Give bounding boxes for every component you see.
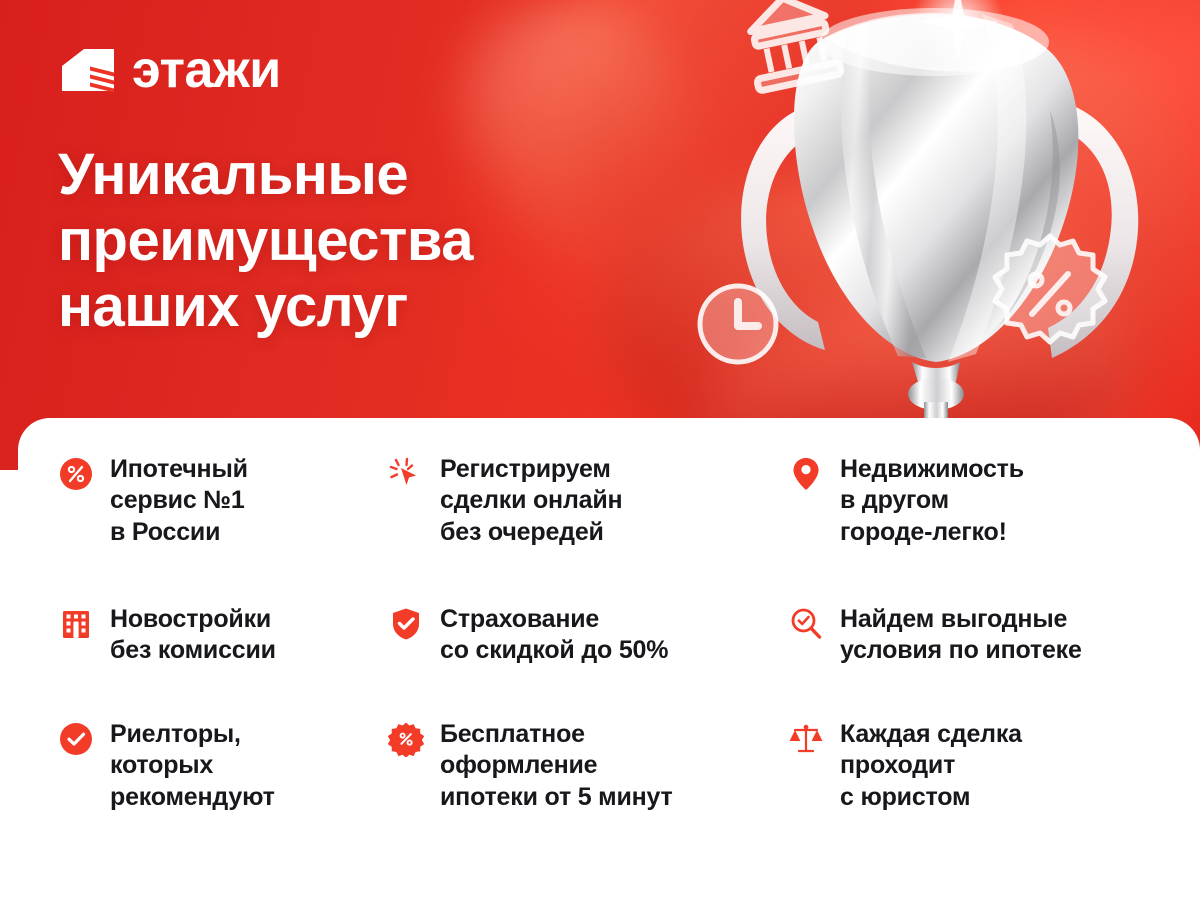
clock-icon	[700, 286, 776, 362]
headline-line-2: преимущества	[58, 208, 473, 274]
map-pin-icon	[788, 456, 824, 492]
benefit-item: Каждая сделка проходит с юристом	[788, 719, 1178, 813]
benefit-item: Регистрируем сделки онлайн без очередей	[388, 454, 788, 604]
benefit-line: без очередей	[440, 517, 622, 548]
benefit-item: Страхование со скидкой до 50%	[388, 604, 788, 719]
benefit-line: ипотеки от 5 минут	[440, 782, 673, 813]
benefit-line: городе-легко!	[840, 517, 1024, 548]
benefit-item: Ипотечный сервис №1 в России	[58, 454, 388, 604]
percent-badge-icon	[388, 721, 424, 757]
check-circle-icon	[58, 721, 94, 757]
benefit-item: Бесплатное оформление ипотеки от 5 минут	[388, 719, 788, 813]
benefit-item: Найдем выгодные условия по ипотеке	[788, 604, 1178, 719]
click-cursor-icon	[388, 456, 424, 492]
benefit-line: Риелторы,	[110, 719, 275, 750]
benefit-text: Каждая сделка проходит с юристом	[840, 719, 1022, 813]
benefit-line: Ипотечный	[110, 454, 248, 485]
benefit-line: Новостройки	[110, 604, 276, 635]
benefits-card: Ипотечный сервис №1 в России	[18, 418, 1200, 900]
silver-trophy-illustration	[690, 0, 1200, 440]
benefit-line: сделки онлайн	[440, 485, 622, 516]
benefit-text: Регистрируем сделки онлайн без очередей	[440, 454, 622, 548]
percent-circle-icon	[58, 456, 94, 492]
headline-line-1: Уникальные	[58, 142, 473, 208]
promo-banner: этажи Уникальные преимущества наших услу…	[0, 0, 1200, 900]
benefit-item: Риелторы, которых рекомендуют	[58, 719, 388, 813]
benefit-line: Бесплатное	[440, 719, 673, 750]
benefit-line: без комиссии	[110, 635, 276, 666]
benefit-line: Страхование	[440, 604, 668, 635]
brand-logo[interactable]: этажи	[60, 44, 281, 96]
benefit-item: Недвижимость в другом городе-легко!	[788, 454, 1178, 604]
benefit-item: Новостройки без комиссии	[58, 604, 388, 719]
benefit-line: со скидкой до 50%	[440, 635, 668, 666]
benefit-line: рекомендуют	[110, 782, 275, 813]
benefit-text: Недвижимость в другом городе-легко!	[840, 454, 1024, 548]
benefit-line: Каждая сделка	[840, 719, 1022, 750]
benefit-text: Найдем выгодные условия по ипотеке	[840, 604, 1082, 667]
benefit-line: оформление	[440, 750, 673, 781]
headline-line-3: наших услуг	[58, 274, 473, 340]
shield-check-icon	[388, 606, 424, 642]
apartment-building-icon	[58, 606, 94, 642]
benefit-line: Найдем выгодные	[840, 604, 1082, 635]
benefit-text: Ипотечный сервис №1 в России	[110, 454, 248, 548]
benefit-line: Регистрируем	[440, 454, 622, 485]
building-logo-icon	[60, 46, 116, 94]
search-check-icon	[788, 606, 824, 642]
benefit-text: Бесплатное оформление ипотеки от 5 минут	[440, 719, 673, 813]
hero-headline: Уникальные преимущества наших услуг	[58, 142, 473, 340]
scales-justice-icon	[788, 721, 824, 757]
percent-badge-icon	[995, 236, 1105, 342]
brand-name: этажи	[132, 44, 281, 96]
benefit-text: Новостройки без комиссии	[110, 604, 276, 667]
benefit-line: которых	[110, 750, 275, 781]
benefit-line: условия по ипотеке	[840, 635, 1082, 666]
benefit-line: в России	[110, 517, 248, 548]
benefit-line: с юристом	[840, 782, 1022, 813]
benefit-line: Недвижимость	[840, 454, 1024, 485]
benefit-line: сервис №1	[110, 485, 248, 516]
benefit-line: в другом	[840, 485, 1024, 516]
benefits-grid: Ипотечный сервис №1 в России	[58, 454, 1178, 813]
benefit-line: проходит	[840, 750, 1022, 781]
benefit-text: Риелторы, которых рекомендуют	[110, 719, 275, 813]
benefit-text: Страхование со скидкой до 50%	[440, 604, 668, 667]
